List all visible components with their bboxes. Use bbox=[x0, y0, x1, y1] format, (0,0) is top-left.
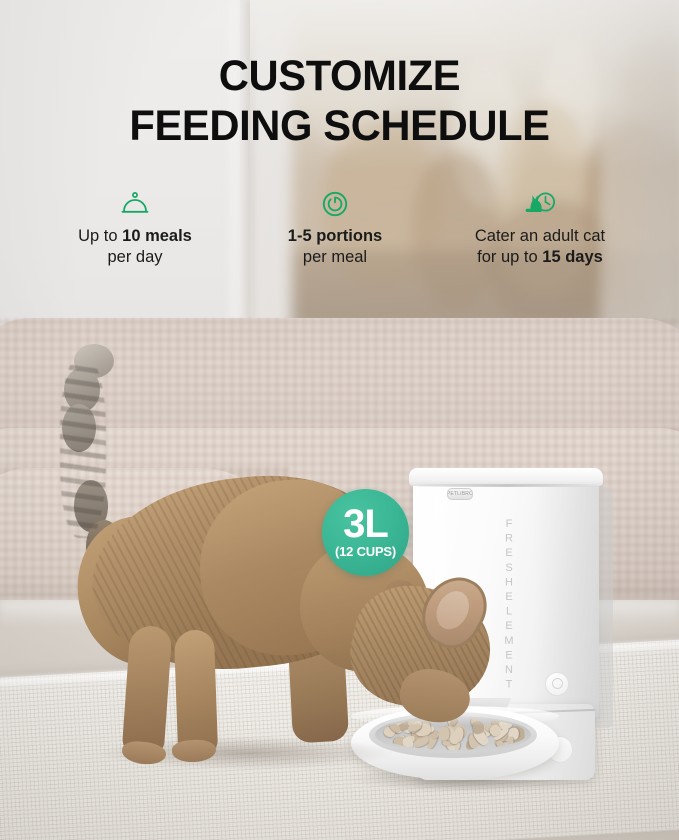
feature-meals-prefix: Up to bbox=[78, 227, 122, 245]
feature-row: Up to 10 meals per day 1-5 portions per … bbox=[40, 188, 640, 268]
cat-clock-icon bbox=[440, 188, 640, 220]
capacity-cups: (12 CUPS) bbox=[335, 544, 396, 559]
feature-days-line1: Cater an adult cat bbox=[440, 226, 640, 247]
feature-days-text: Cater an adult cat for up to 15 days bbox=[440, 226, 640, 268]
feature-meals-line2: per day bbox=[40, 247, 230, 268]
feature-portions-line2: per meal bbox=[255, 247, 415, 268]
cat-front-leg-left bbox=[122, 625, 173, 758]
background-haze bbox=[250, 0, 679, 340]
feature-portions-text: 1-5 portions per meal bbox=[255, 226, 415, 268]
feature-portions-value: 1-5 portions bbox=[255, 226, 415, 247]
feeder-button-glyph-icon bbox=[552, 678, 563, 689]
feature-meals-text: Up to 10 meals per day bbox=[40, 226, 230, 268]
headline-line-2: FEEDING SCHEDULE bbox=[10, 102, 669, 152]
feature-days-capacity: Cater an adult cat for up to 15 days bbox=[440, 188, 640, 268]
cat bbox=[0, 330, 520, 830]
capacity-value: 3L bbox=[343, 506, 388, 543]
feature-days-value: 15 days bbox=[542, 248, 603, 266]
cloche-dome-icon bbox=[40, 188, 230, 220]
page-title: CUSTOMIZE FEEDING SCHEDULE bbox=[10, 52, 669, 152]
capacity-badge: 3L (12 CUPS) bbox=[322, 489, 409, 576]
feature-meals-value: 10 meals bbox=[122, 227, 192, 245]
portion-dial-icon bbox=[255, 188, 415, 220]
feature-portions-per-meal: 1-5 portions per meal bbox=[255, 188, 415, 268]
cat-front-leg-right bbox=[174, 629, 218, 756]
marketing-image: PETLIBRO FRESHELEMENT 3L (12 CUPS) CUSTO… bbox=[0, 0, 679, 840]
feature-days-prefix: for up to bbox=[477, 248, 542, 266]
headline-line-1: CUSTOMIZE bbox=[10, 52, 669, 102]
feature-meals-per-day: Up to 10 meals per day bbox=[40, 188, 230, 268]
